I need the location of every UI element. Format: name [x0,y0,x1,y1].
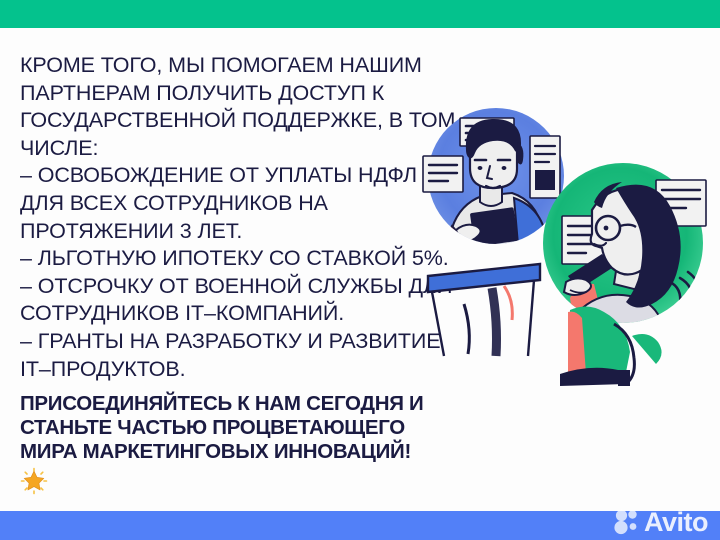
body-line: ДЛЯ ВСЕХ СОТРУДНИКОВ НА [20,190,460,218]
cta-block: ПРИСОЕДИНЯЙТЕСЬ К НАМ СЕГОДНЯ И СТАНЬТЕ … [20,392,470,464]
body-line: СОТРУДНИКОВ IT–КОМПАНИЙ. [20,300,460,328]
woman-with-phone-figure [543,163,706,386]
body-line: ПАРТНЕРАМ ПОЛУЧИТЬ ДОСТУП К [20,80,460,108]
avito-watermark-label: Avito [644,509,708,536]
man-with-phone-figure [423,108,564,356]
body-line: ПРОТЯЖЕНИИ 3 ЛЕТ. [20,218,460,246]
body-line: – ЛЬГОТНУЮ ИПОТЕКУ СО СТАВКОЙ 5%. [20,245,460,273]
top-brand-bar [0,0,720,28]
cta-line: ПРИСОЕДИНЯЙТЕСЬ К НАМ СЕГОДНЯ И [20,392,470,416]
avito-watermark: Avito [614,505,708,539]
two-people-with-phones-illustration [418,98,720,398]
body-copy-block: КРОМЕ ТОГО, МЫ ПОМОГАЕМ НАШИМ ПАРТНЕРАМ … [20,52,460,383]
bottom-brand-bar [0,511,720,540]
avito-dots-logo-icon [614,509,640,535]
poster-canvas: КРОМЕ ТОГО, МЫ ПОМОГАЕМ НАШИМ ПАРТНЕРАМ … [0,0,720,540]
body-line: IT–ПРОДУКТОВ. [20,356,460,384]
body-line: – ГРАНТЫ НА РАЗРАБОТКУ И РАЗВИТИЕ [20,328,460,356]
cta-line: МИРА МАРКЕТИНГОВЫХ ИННОВАЦИЙ! [20,440,470,464]
body-line: – ОСВОБОЖДЕНИЕ ОТ УПЛАТЫ НДФЛ [20,162,460,190]
glowing-star-icon [20,467,48,495]
body-line: – ОТСРОЧКУ ОТ ВОЕННОЙ СЛУЖБЫ ДЛЯ [20,273,460,301]
body-line: КРОМЕ ТОГО, МЫ ПОМОГАЕМ НАШИМ [20,52,460,80]
desk-shape [428,264,540,356]
body-line: ЧИСЛЕ: [20,135,460,163]
body-line: ГОСУДАРСТВЕННОЙ ПОДДЕРЖКЕ, В ТОМ [20,107,460,135]
cta-line: СТАНЬТЕ ЧАСТЬЮ ПРОЦВЕТАЮЩЕГО [20,416,470,440]
